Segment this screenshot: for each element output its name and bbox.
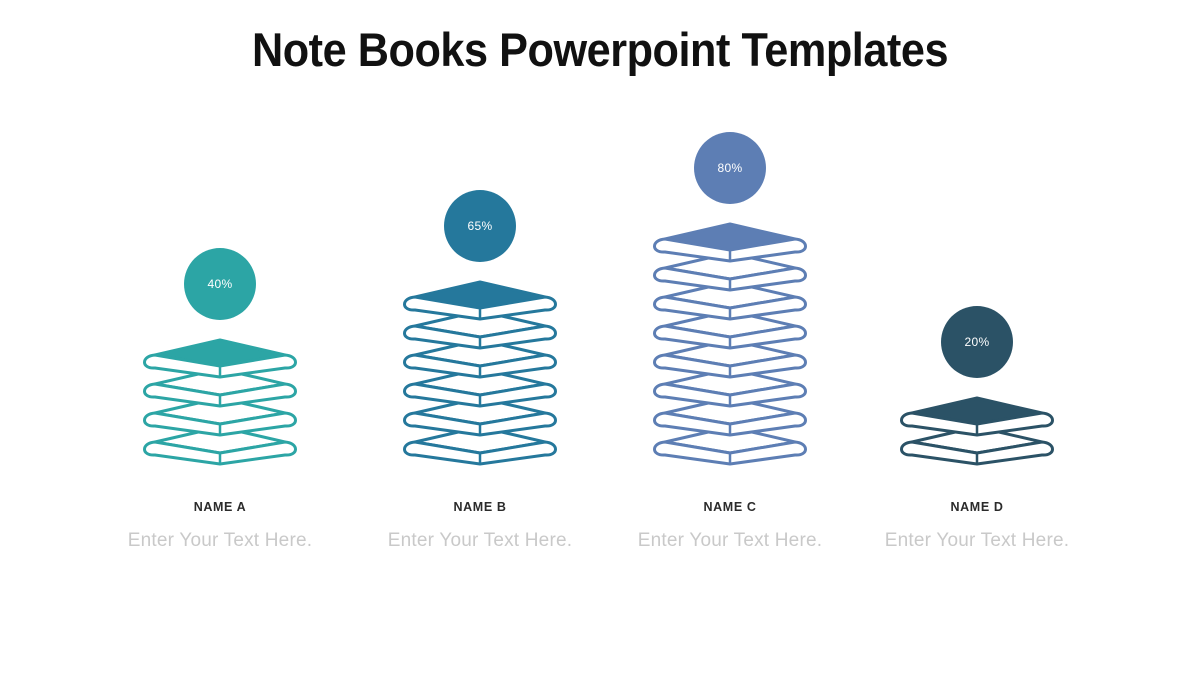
column-description-a[interactable]: Enter Your Text Here. <box>95 530 345 552</box>
book-stack-svg <box>892 392 1062 490</box>
book-stack-svg <box>645 218 815 490</box>
column-description-d[interactable]: Enter Your Text Here. <box>852 530 1102 552</box>
book-stack-icon-c <box>645 218 815 490</box>
slide-canvas: Note Books Powerpoint Templates 40% NAME… <box>0 0 1200 675</box>
book-stack-icon-a <box>135 334 305 490</box>
book-stack-icon-d <box>892 392 1062 490</box>
column-name-d: NAME D <box>852 500 1102 514</box>
book-stack-svg <box>395 276 565 490</box>
book-stack-icon-b <box>395 276 565 490</box>
page-title: Note Books Powerpoint Templates <box>48 22 1152 77</box>
column-name-b: NAME B <box>355 500 605 514</box>
column-description-c[interactable]: Enter Your Text Here. <box>605 530 855 552</box>
caption-b: NAME B Enter Your Text Here. <box>355 500 605 552</box>
column-description-b[interactable]: Enter Your Text Here. <box>355 530 605 552</box>
percent-label-d: 20% <box>965 335 990 349</box>
column-name-a: NAME A <box>95 500 345 514</box>
percent-bubble-d[interactable]: 20% <box>941 306 1013 378</box>
infographic-column-d[interactable]: 20% NAME D Enter Your Text Here. <box>852 150 1102 580</box>
caption-a: NAME A Enter Your Text Here. <box>95 500 345 552</box>
percent-label-c: 80% <box>718 161 743 175</box>
column-name-c: NAME C <box>605 500 855 514</box>
percent-bubble-c[interactable]: 80% <box>694 132 766 204</box>
percent-bubble-a[interactable]: 40% <box>184 248 256 320</box>
percent-label-b: 65% <box>468 219 493 233</box>
percent-label-a: 40% <box>208 277 233 291</box>
infographic-column-a[interactable]: 40% NAME A Enter Your Text Here. <box>95 150 345 580</box>
percent-bubble-b[interactable]: 65% <box>444 190 516 262</box>
infographic-column-b[interactable]: 65% NAME B Enter Your Text Here. <box>355 150 605 580</box>
book-stack-svg <box>135 334 305 490</box>
caption-c: NAME C Enter Your Text Here. <box>605 500 855 552</box>
caption-d: NAME D Enter Your Text Here. <box>852 500 1102 552</box>
infographic-column-c[interactable]: 80% NAME C Enter Your Text Here. <box>605 150 855 580</box>
